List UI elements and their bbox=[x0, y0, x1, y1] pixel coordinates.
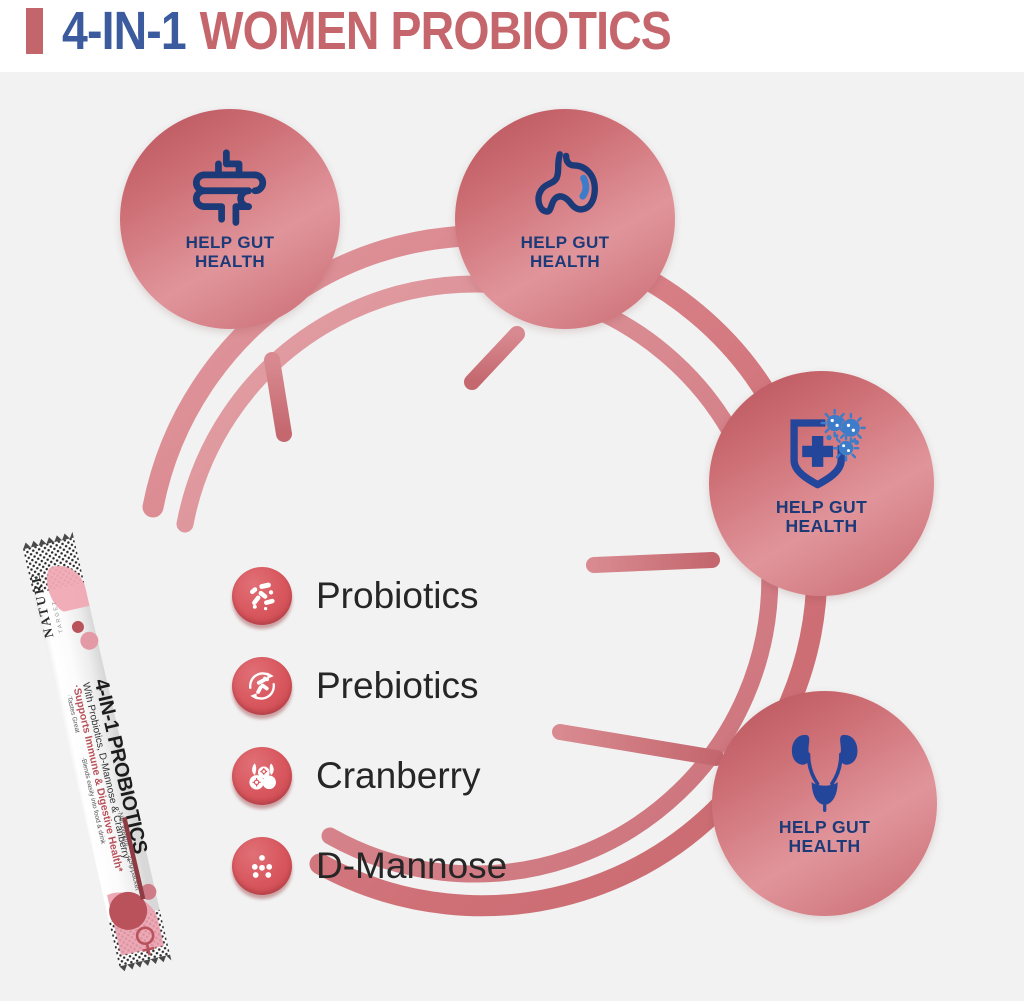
benefit-label: HELP GUT HEALTH bbox=[779, 818, 870, 856]
ingredient-label: D-Mannose bbox=[316, 846, 507, 886]
kidneys bbox=[792, 735, 858, 765]
stomach-icon bbox=[519, 148, 610, 227]
benefit-label: HELP GUT HEALTH bbox=[521, 233, 610, 271]
urinary-tract-icon bbox=[778, 730, 871, 811]
intestines-icon bbox=[184, 148, 275, 227]
title-part-women-probiotics: WOMEN PROBIOTICS bbox=[200, 1, 671, 61]
connector-node-2 bbox=[472, 334, 517, 382]
stomach-accent bbox=[583, 178, 586, 196]
ingredient-label: Cranberry bbox=[316, 756, 481, 796]
benefit-node-urinary[interactable]: HELP GUT HEALTH bbox=[723, 702, 926, 905]
connector-node-3 bbox=[594, 560, 712, 565]
bladder bbox=[812, 782, 838, 805]
recycle-bacteria-icon bbox=[232, 657, 292, 715]
page-header: 4-IN-1 WOMEN PROBIOTICS bbox=[0, 0, 1024, 72]
infographic-page: 4-IN-1 WOMEN PROBIOTICS bbox=[0, 0, 1024, 1001]
cross-shape bbox=[802, 436, 833, 467]
molecule-dots-icon bbox=[232, 837, 292, 895]
ingredient-row-cranberry[interactable]: Cranberry bbox=[232, 731, 562, 821]
benefit-node-stomach[interactable]: HELP GUT HEALTH bbox=[466, 120, 664, 318]
ureter-left bbox=[808, 755, 817, 784]
title-part-4in1: 4-IN-1 bbox=[62, 1, 186, 61]
shield-virus-icon bbox=[775, 410, 868, 491]
ingredient-row-probiotics[interactable]: Probiotics bbox=[232, 551, 562, 641]
page-title: 4-IN-1 WOMEN PROBIOTICS bbox=[26, 2, 770, 60]
connector-node-4 bbox=[560, 732, 716, 758]
ingredient-label: Probiotics bbox=[316, 576, 478, 616]
ingredient-label: Prebiotics bbox=[316, 666, 478, 706]
ingredient-row-dmannose[interactable]: D-Mannose bbox=[232, 821, 562, 911]
berries-icon bbox=[232, 747, 292, 805]
ingredient-row-prebiotics[interactable]: Prebiotics bbox=[232, 641, 562, 731]
sachet-body: NATURE TARGET 4-IN-1 PROBIOTICS With Pro… bbox=[20, 531, 176, 973]
ingredient-list: Probiotics bbox=[232, 551, 562, 911]
diagram-canvas: HELP GUT HEALTH HELP GUT HEALTH bbox=[0, 72, 1024, 1001]
title-accent-bar bbox=[26, 8, 43, 54]
title-text-group: 4-IN-1 WOMEN PROBIOTICS bbox=[62, 4, 671, 58]
bacteria-icon bbox=[232, 567, 292, 625]
benefit-label: HELP GUT HEALTH bbox=[776, 498, 867, 536]
benefit-label: HELP GUT HEALTH bbox=[186, 233, 275, 271]
ureter-right bbox=[832, 755, 841, 784]
connector-node-1 bbox=[272, 360, 284, 434]
benefit-node-immunity[interactable]: HELP GUT HEALTH bbox=[720, 382, 923, 585]
product-sachet[interactable]: NATURE TARGET 4-IN-1 PROBIOTICS With Pro… bbox=[18, 517, 218, 977]
benefit-node-intestines[interactable]: HELP GUT HEALTH bbox=[131, 120, 329, 318]
